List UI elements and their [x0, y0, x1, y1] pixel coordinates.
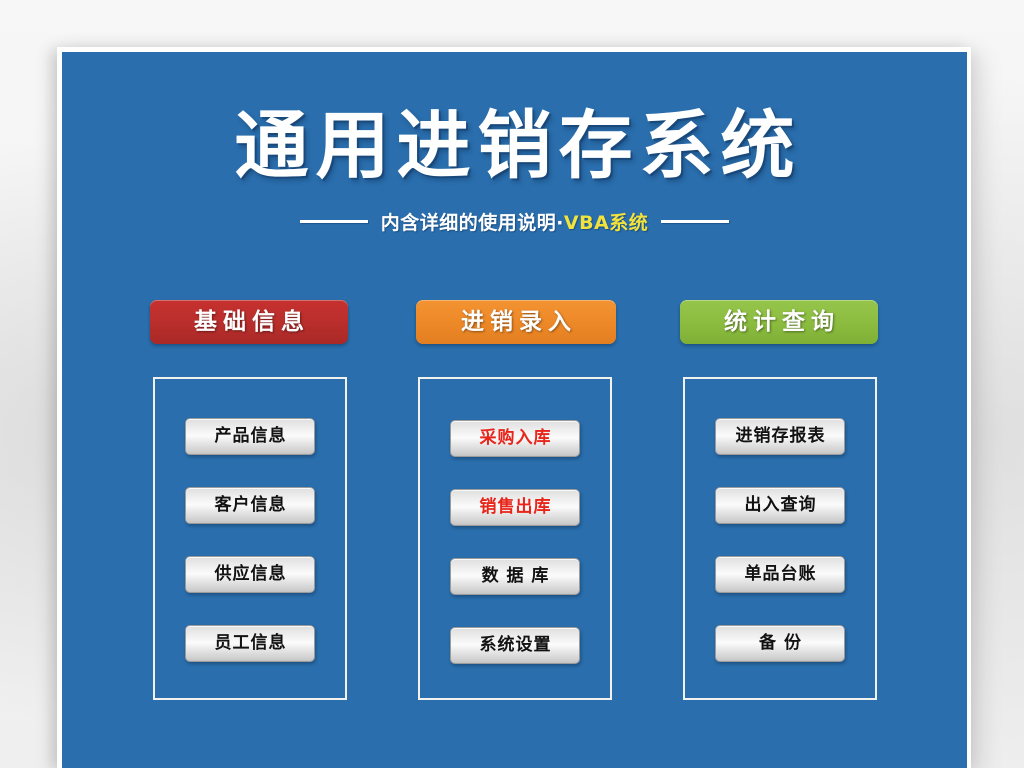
page-subtitle: 内含详细的使用说明·VBA系统 — [381, 208, 649, 235]
menu-button-purchase-inbound[interactable]: 采购入库 — [450, 420, 580, 457]
subtitle-rule-right — [661, 220, 729, 223]
menu-button-system-settings[interactable]: 系统设置 — [450, 627, 580, 664]
query-column: 进销存报表 出入查询 单品台账 备 份 — [683, 418, 877, 662]
menu-button-customer-info[interactable]: 客户信息 — [185, 487, 315, 524]
page-title: 通用进销存系统 — [62, 102, 967, 190]
menu-button-supplier-info[interactable]: 供应信息 — [185, 556, 315, 593]
subtitle-accent-text: VBA系统 — [564, 212, 648, 234]
basic-info-column: 产品信息 客户信息 供应信息 员工信息 — [153, 418, 347, 662]
subtitle-rule-left — [300, 220, 368, 223]
main-board: 通用进销存系统 内含详细的使用说明·VBA系统 基础信息 进销录入 统计查询 产… — [62, 52, 967, 768]
page-background: 通用进销存系统 内含详细的使用说明·VBA系统 基础信息 进销录入 统计查询 产… — [0, 0, 1024, 768]
menu-button-sales-outbound[interactable]: 销售出库 — [450, 489, 580, 526]
menu-button-product-info[interactable]: 产品信息 — [185, 418, 315, 455]
menu-button-database[interactable]: 数 据 库 — [450, 558, 580, 595]
entry-column: 采购入库 销售出库 数 据 库 系统设置 — [418, 420, 612, 664]
menu-button-item-ledger[interactable]: 单品台账 — [715, 556, 845, 593]
menu-button-inventory-report[interactable]: 进销存报表 — [715, 418, 845, 455]
category-button-purchase-sales-entry[interactable]: 进销录入 — [416, 300, 616, 344]
menu-button-employee-info[interactable]: 员工信息 — [185, 625, 315, 662]
subtitle-row: 内含详细的使用说明·VBA系统 — [62, 208, 967, 235]
menu-button-in-out-query[interactable]: 出入查询 — [715, 487, 845, 524]
category-button-basic-info[interactable]: 基础信息 — [150, 300, 348, 344]
menu-button-backup[interactable]: 备 份 — [715, 625, 845, 662]
subtitle-prefix-text: 内含详细的使用说明· — [381, 212, 564, 234]
category-button-statistics-query[interactable]: 统计查询 — [680, 300, 878, 344]
